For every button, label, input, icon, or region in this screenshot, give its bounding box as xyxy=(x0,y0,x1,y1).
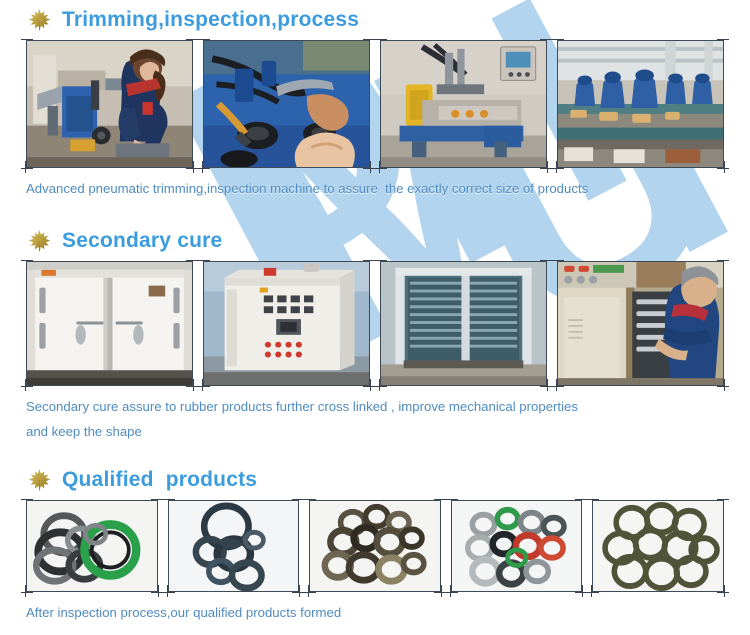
section-qualified-products: Qualified products xyxy=(26,460,724,625)
photo-coloured-seal-assortment[interactable] xyxy=(451,500,583,592)
catalog-page: Trimming,inspection,process xyxy=(0,0,750,625)
photo-olive-o-rings[interactable] xyxy=(592,500,724,592)
photo-automatic-inspection-machine[interactable] xyxy=(380,40,547,168)
caption-secondary-cure: Secondary cure assure to rubber products… xyxy=(26,394,724,444)
maple-leaf-icon xyxy=(26,467,52,493)
photo-oven-control-panel[interactable] xyxy=(203,261,370,386)
photo-technician-at-oven-panel[interactable] xyxy=(557,261,724,386)
photo-assorted-washers-seals[interactable] xyxy=(309,500,441,592)
photo-strip-trimming xyxy=(26,40,724,168)
photo-curing-oven-doors[interactable] xyxy=(26,261,193,386)
photo-oven-interior-racks[interactable] xyxy=(380,261,547,386)
section-trimming: Trimming,inspection,process xyxy=(26,0,724,201)
photo-strip-secondary-cure xyxy=(26,261,724,386)
section-title: Trimming,inspection,process xyxy=(62,8,359,32)
caption-qualified-products: After inspection process,our qualified p… xyxy=(26,600,724,625)
section-title: Qualified products xyxy=(62,468,257,492)
maple-leaf-icon xyxy=(26,7,52,33)
section-heading-qualified-products: Qualified products xyxy=(26,460,724,500)
section-title: Secondary cure xyxy=(62,229,222,253)
section-secondary-cure: Secondary cure xyxy=(26,221,724,444)
photo-strip-qualified-products xyxy=(26,500,724,592)
photo-inspection-assembly-line[interactable] xyxy=(557,40,724,168)
section-heading-trimming: Trimming,inspection,process xyxy=(26,0,724,40)
maple-leaf-icon xyxy=(26,228,52,254)
photo-dark-rubber-seals[interactable] xyxy=(168,500,300,592)
photo-oil-seals-green-black[interactable] xyxy=(26,500,158,592)
section-heading-secondary-cure: Secondary cure xyxy=(26,221,724,261)
photo-worker-at-trimming-machine[interactable] xyxy=(26,40,193,168)
caption-trimming: Advanced pneumatic trimming,inspection m… xyxy=(26,176,724,201)
photo-hands-trimming-seal-closeup[interactable] xyxy=(203,40,370,168)
